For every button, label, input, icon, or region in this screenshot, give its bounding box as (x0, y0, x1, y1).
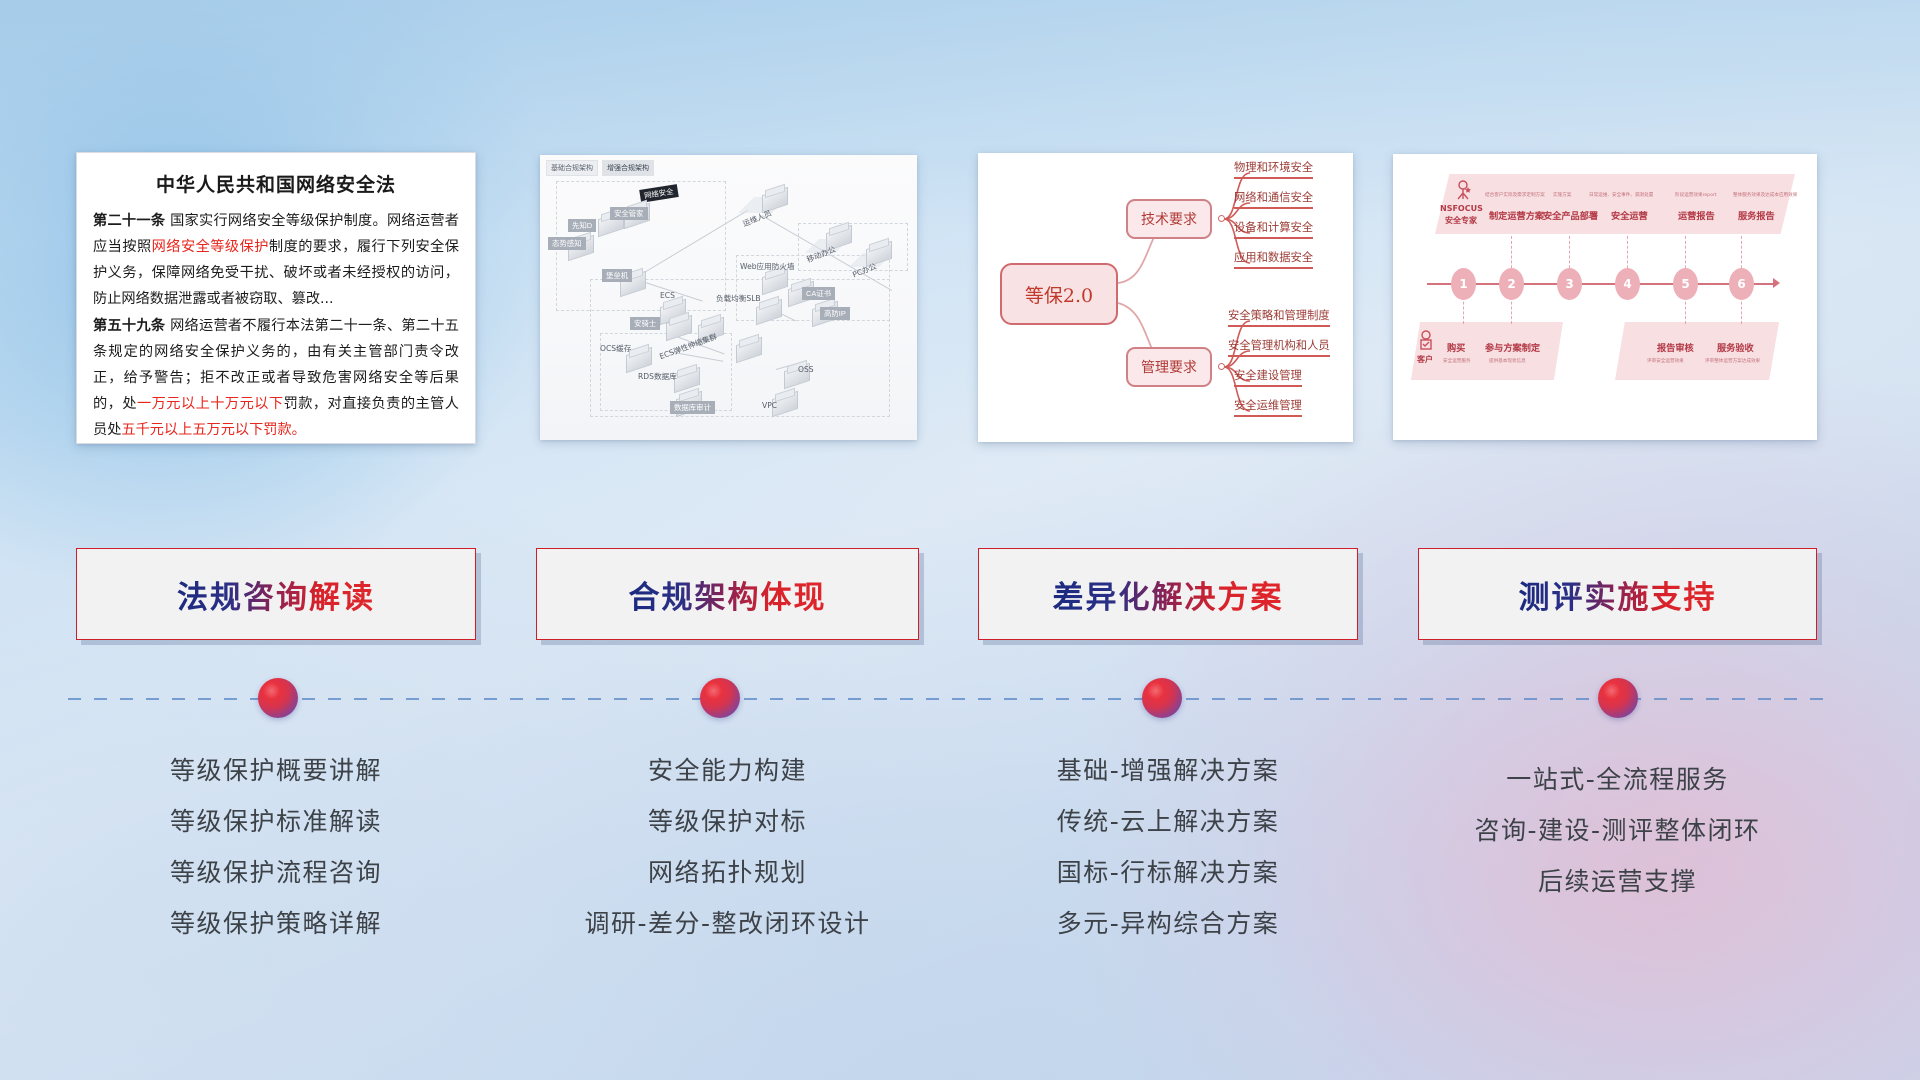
timeline-top-step-4-sub: 阶段运营效果report (1675, 192, 1717, 198)
mindmap-leaf-mgmt-3: 安全建设管理 (1234, 367, 1302, 387)
timeline-top-step-5-title: 服务报告 (1738, 208, 1775, 222)
list-differentiated-solution: 基础-增强解决方案 传统-云上解决方案 国标-行标解决方案 多元-异构综合方案 (978, 745, 1358, 949)
heading-differentiated-solution-label: 差异化解决方案 (1053, 572, 1284, 617)
customer-icon (1417, 330, 1435, 352)
list-item: 多元-异构综合方案 (978, 898, 1358, 949)
law-run-2-1: 一万元以上十万元以下 (137, 396, 284, 412)
timeline-step-number-2: 2 (1499, 268, 1524, 300)
mindmap-root-node: 等保2.0 (1000, 263, 1118, 325)
timeline-top-step-3-title: 安全运营 (1611, 208, 1648, 222)
timeline-expert-label-line1: NSFOCUS (1440, 204, 1483, 213)
timeline-step-number-1: 1 (1451, 268, 1476, 300)
arch-label-vpc: VPC (762, 401, 777, 410)
list-item: 等级保护标准解读 (76, 796, 476, 847)
arch-label-baoleiji: 堡垒机 (602, 269, 632, 282)
list-compliance-architecture: 安全能力构建 等级保护对标 网络拓扑规划 调研-差分-整改闭环设计 (536, 745, 919, 949)
cloud-architecture-card: 基础合规架构 增强合规架构 网络安全 (540, 155, 917, 440)
arch-label-waf: Web应用防火墙 (740, 261, 795, 272)
timeline-bottom-step-1-sub: 安全运营服务 (1443, 358, 1471, 364)
timeline-bottom-step-3-title: 报告审核 (1657, 340, 1694, 354)
law-card-body: 第二十一条 国家实行网络安全等级保护制度。网络运营者应当按照网络安全等级保护制度… (93, 209, 459, 444)
timeline-top-step-2-sub: 实施方案 (1553, 192, 1571, 198)
mindmap-leaf-tech-4: 应用和数据安全 (1234, 249, 1313, 269)
list-item: 调研-差分-整改闭环设计 (536, 898, 919, 949)
list-item: 国标-行标解决方案 (978, 847, 1358, 898)
mindmap-leaf-mgmt-2: 安全管理机构和人员 (1228, 337, 1330, 357)
heading-regulation-consulting[interactable]: 法规咨询解读 (76, 548, 476, 640)
law-article-label-1: 第二十一条 (93, 213, 165, 229)
timeline-bottom-step-2-title: 参与方案制定 (1485, 340, 1540, 354)
list-item: 等级保护对标 (536, 796, 919, 847)
service-timeline-diagram: NSFOCUS 安全专家 制定运营方案 安全产品部署 安全运营 运营报告 服务报… (1393, 154, 1817, 440)
timeline-top-step-1-sub: 结合客户实际及需求定制方案 (1485, 192, 1545, 198)
heading-compliance-architecture-label: 合规架构体现 (629, 572, 827, 617)
mindmap-leaf-tech-3: 设备和计算安全 (1234, 219, 1313, 239)
heading-evaluation-support-label: 测评实施支持 (1519, 572, 1717, 617)
timeline-track (0, 672, 1920, 728)
law-article-label-2: 第五十九条 (93, 318, 165, 334)
mindmap-leaf-tech-1: 物理和环境安全 (1234, 159, 1313, 179)
list-item: 网络拓扑规划 (536, 847, 919, 898)
arch-label-gaofangip: 高防IP (820, 307, 850, 320)
timeline-dashed-line (68, 698, 1824, 700)
timeline-top-step-2-title: 安全产品部署 (1543, 208, 1598, 222)
arch-label-slb: 负载均衡SLB (716, 293, 761, 304)
timeline-step-number-3: 3 (1557, 268, 1582, 300)
timeline-dot-2[interactable] (700, 678, 740, 718)
list-regulation-consulting: 等级保护概要讲解 等级保护标准解读 等级保护流程咨询 等级保护策略详解 (76, 745, 476, 949)
list-evaluation-support: 一站式-全流程服务 咨询-建设-测评整体闭环 后续运营支撑 (1418, 754, 1817, 907)
lists-row: 等级保护概要讲解 等级保护标准解读 等级保护流程咨询 等级保护策略详解 安全能力… (0, 745, 1920, 985)
mindmap-branch-management: 管理要求 (1126, 347, 1212, 387)
arch-label-ca: CA证书 (802, 287, 835, 300)
list-item: 一站式-全流程服务 (1418, 754, 1817, 805)
heading-regulation-consulting-label: 法规咨询解读 (177, 572, 375, 617)
law-run-1-1: 网络安全等级保护 (152, 239, 269, 255)
timeline-dot-4[interactable] (1598, 678, 1638, 718)
arch-label-oss: OSS (798, 365, 814, 374)
timeline-axis-line (1427, 283, 1775, 285)
timeline-bottom-step-3-sub: 评审安全运营效果 (1647, 358, 1684, 364)
mindmap-leaf-mgmt-1: 安全策略和管理制度 (1228, 307, 1330, 327)
arch-tab-basic[interactable]: 基础合规架构 (546, 160, 598, 176)
list-item: 基础-增强解决方案 (978, 745, 1358, 796)
mindmap-leaf-mgmt-4: 安全运维管理 (1234, 397, 1302, 417)
arch-label-taishiganzhi: 态势感知 (548, 237, 586, 250)
mindmap-collapse-dot-technical[interactable] (1218, 215, 1225, 222)
timeline-step-number-5: 5 (1673, 268, 1698, 300)
list-item: 等级保护概要讲解 (76, 745, 476, 796)
timeline-expert-label-line2: 安全专家 (1445, 215, 1477, 226)
heading-differentiated-solution[interactable]: 差异化解决方案 (978, 548, 1358, 640)
mindmap-collapse-dot-management[interactable] (1218, 363, 1225, 370)
arch-label-anquanguanjia: 安全管家 (610, 207, 648, 220)
heading-compliance-architecture[interactable]: 合规架构体现 (536, 548, 919, 640)
arch-label-rds: RDS数据库 (638, 371, 677, 382)
mindmap-diagram: 等保2.0 技术要求 管理要求 物理和环境安全 网络和通信安全 设备和计算安全 … (978, 153, 1353, 442)
service-timeline-card: NSFOCUS 安全专家 制定运营方案 安全产品部署 安全运营 运营报告 服务报… (1393, 154, 1817, 440)
mindmap-branch-technical: 技术要求 (1126, 199, 1212, 239)
cybersecurity-law-card: 中华人民共和国网络安全法 第二十一条 国家实行网络安全等级保护制度。网络运营者应… (76, 152, 476, 444)
arch-label-ocs: OCS缓存 (600, 343, 631, 354)
timeline-bottom-step-2-sub: 提供基本现状信息 (1489, 358, 1526, 364)
arch-label-dbaudit: 数据库审计 (670, 401, 715, 414)
architecture-diagram: 基础合规架构 增强合规架构 网络安全 (540, 155, 917, 440)
list-item: 传统-云上解决方案 (978, 796, 1358, 847)
timeline-axis-arrow (1773, 278, 1780, 288)
law-card-title: 中华人民共和国网络安全法 (93, 170, 459, 197)
law-run-2-3: 五千元以上五万元以下罚款。 (121, 422, 305, 438)
timeline-step-number-4: 4 (1615, 268, 1640, 300)
arch-label-xianzhi: 先知D (568, 219, 596, 232)
timeline-customer-label: 客户 (1417, 354, 1433, 365)
arch-label-ecs: ECS (660, 291, 675, 300)
timeline-bottom-step-1-title: 购买 (1447, 340, 1465, 354)
law-paragraph-1: 第二十一条 国家实行网络安全等级保护制度。网络运营者应当按照网络安全等级保护制度… (93, 209, 459, 312)
timeline-top-step-1-title: 制定运营方案 (1489, 208, 1544, 222)
heading-evaluation-support[interactable]: 测评实施支持 (1418, 548, 1817, 640)
list-item: 安全能力构建 (536, 745, 919, 796)
law-paragraph-2: 第五十九条 网络运营者不履行本法第二十一条、第二十五条规定的网络安全保护义务的，… (93, 314, 459, 443)
list-item: 等级保护策略详解 (76, 898, 476, 949)
list-item: 等级保护流程咨询 (76, 847, 476, 898)
timeline-top-band (1435, 174, 1795, 234)
arch-label-anqishi: 安骑士 (630, 317, 660, 330)
mindmap-card: 等保2.0 技术要求 管理要求 物理和环境安全 网络和通信安全 设备和计算安全 … (978, 153, 1353, 442)
mindmap-leaf-tech-2: 网络和通信安全 (1234, 189, 1313, 209)
timeline-bottom-step-4-sub: 评审整体运营方案达成效果 (1705, 358, 1760, 364)
cards-row: 中华人民共和国网络安全法 第二十一条 国家实行网络安全等级保护制度。网络运营者应… (0, 152, 1920, 442)
arch-tab-enhanced[interactable]: 增强合规架构 (602, 160, 654, 176)
timeline-dot-1[interactable] (258, 678, 298, 718)
security-expert-icon (1453, 180, 1473, 202)
timeline-top-step-5-sub: 整体服务效果及达成本应用效果 (1733, 192, 1797, 198)
timeline-bottom-step-4-title: 服务验收 (1717, 340, 1754, 354)
list-item: 咨询-建设-测评整体闭环 (1418, 805, 1817, 856)
timeline-bottom-right-band (1615, 322, 1779, 380)
timeline-dot-3[interactable] (1142, 678, 1182, 718)
headings-row: 法规咨询解读 合规架构体现 差异化解决方案 测评实施支持 (0, 548, 1920, 644)
timeline-top-step-3-sub: 日常运维、安全事件、漏洞处置 (1589, 192, 1653, 198)
list-item: 后续运营支撑 (1418, 856, 1817, 907)
timeline-top-step-4-title: 运营报告 (1678, 208, 1715, 222)
timeline-step-number-6: 6 (1729, 268, 1754, 300)
